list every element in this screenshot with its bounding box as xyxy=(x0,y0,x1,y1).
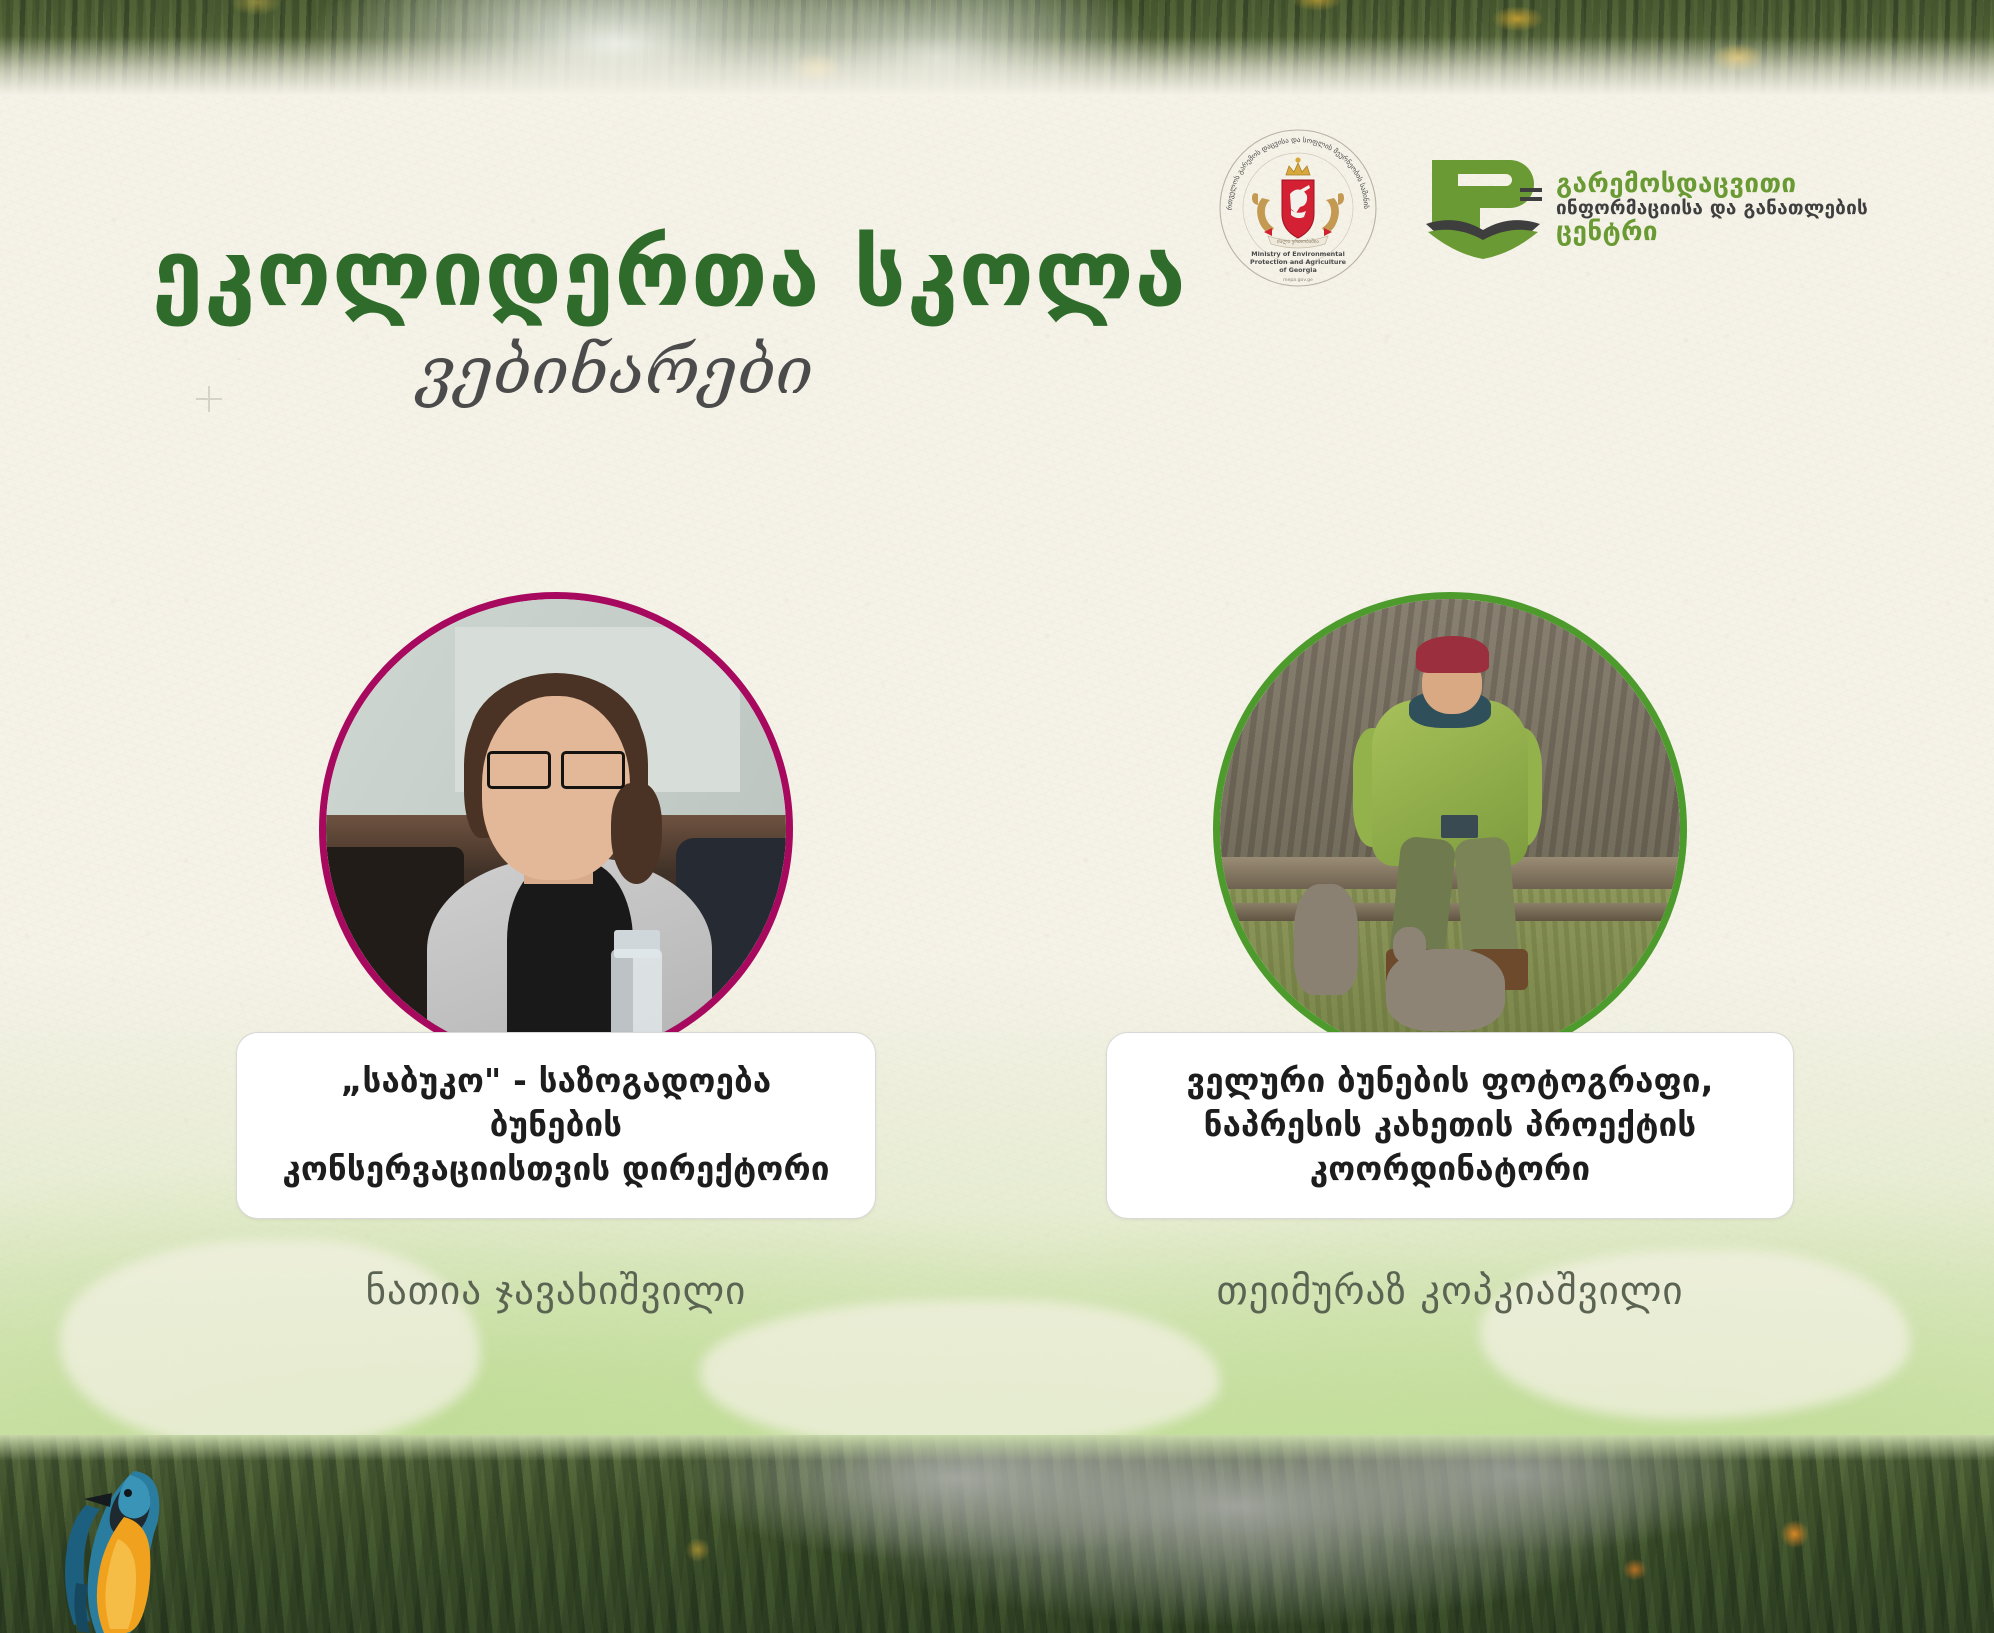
environmental-education-center-logo: გარემოსდაცვითი ინფორმაციისა და განათლები… xyxy=(1424,152,1868,264)
speaker-right-role-line-3: კოორდინატორი xyxy=(1141,1147,1759,1191)
ministry-emblem-logo: ძალა ერთობაშია Ministry of Environmental… xyxy=(1218,128,1378,288)
speaker-left-role-bubble: „საბუკო" - საზოგადოება ბუნების კონსერვაც… xyxy=(236,1032,876,1219)
speaker-right-role-line-1: ველური ბუნების ფოტოგრაფი, xyxy=(1141,1059,1759,1103)
woman-speaking-at-table-photo xyxy=(326,599,786,1059)
top-banner-image xyxy=(0,0,1994,96)
gec-line-2: ინფორმაციისა და განათლების xyxy=(1556,198,1868,219)
page-title: ეკოლიდერთა სკოლა xyxy=(152,228,1187,320)
speaker-left-name: ნათია ჯავახიშვილი xyxy=(136,1269,976,1314)
logo-group: ძალა ერთობაშია Ministry of Environmental… xyxy=(1218,128,1868,288)
gec-book-mark-icon xyxy=(1424,152,1542,264)
slide-canvas: ეკოლიდერთა სკოლა ვებინარები xyxy=(0,0,1994,1633)
speaker-right-role-line-2: ნაპრესის კახეთის პროექტის xyxy=(1141,1103,1759,1147)
ministry-caption-line3: of Georgia xyxy=(1279,266,1317,274)
gec-line-3: ცენტრი xyxy=(1556,218,1868,246)
registration-crosshair-icon xyxy=(196,386,222,412)
ministry-caption-line2: Protection and Agriculture xyxy=(1250,258,1347,266)
speaker-left-role-line-1: „საბუკო" - საზოგადოება ბუნების xyxy=(271,1059,841,1147)
bottom-banner-image xyxy=(0,1435,1994,1633)
speaker-card-left: „საბუკო" - საზოგადოება ბუნების კონსერვაც… xyxy=(136,592,976,1314)
bottom-banner-forest-river-scene xyxy=(0,1435,1994,1633)
ministry-website: mepa.gov.ge xyxy=(1283,278,1313,283)
wash-blob-center xyxy=(700,1300,1220,1450)
speaker-right-role-bubble: ველური ბუნების ფოტოგრაფი, ნაპრესის კახეთ… xyxy=(1106,1032,1794,1219)
page-subtitle: ვებინარები xyxy=(418,338,813,404)
ministry-caption-line1: Ministry of Environmental xyxy=(1251,250,1345,258)
speaker-right-avatar xyxy=(1213,592,1687,1066)
man-on-bench-with-cats-photo xyxy=(1220,599,1680,1059)
speaker-right-name: თეიმურაზ კოპკიაშვილი xyxy=(1030,1269,1870,1314)
speaker-left-role-line-2: კონსერვაციისთვის დირექტორი xyxy=(271,1147,841,1191)
flycatcher-bird-illustration xyxy=(38,1435,238,1633)
top-banner-fade xyxy=(0,36,1994,96)
gec-logo-text: გარემოსდაცვითი ინფორმაციისა და განათლები… xyxy=(1556,170,1868,247)
speaker-card-right: ველური ბუნების ფოტოგრაფი, ნაპრესის კახეთ… xyxy=(1030,592,1870,1314)
speaker-left-avatar xyxy=(319,592,793,1066)
svg-text:ძალა ერთობაშია: ძალა ერთობაშია xyxy=(1277,238,1319,245)
bottom-banner-top-fade xyxy=(0,1435,1994,1461)
gec-line-1: გარემოსდაცვითი xyxy=(1556,170,1868,198)
